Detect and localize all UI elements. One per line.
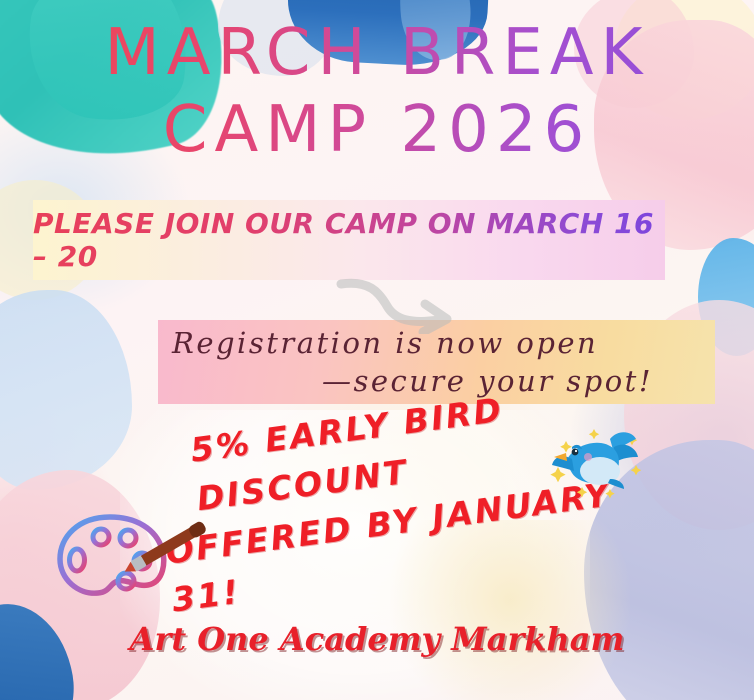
registration-line-1: Registration is now open <box>158 324 715 362</box>
headline-line-2: CAMP 2026 <box>0 99 754 162</box>
watercolor-splash-skyblue-left <box>0 290 132 490</box>
academy-signature: Art One Academy Markham <box>0 620 754 658</box>
blue-bird-icon <box>548 425 644 504</box>
join-band-text: PLEASE JOIN OUR CAMP ON MARCH 16 – 20 <box>33 200 665 280</box>
poster-headline: MARCH BREAK CAMP 2026 <box>0 22 754 161</box>
march-break-camp-poster: MARCH BREAK CAMP 2026 PLEASE JOIN OUR CA… <box>0 0 754 700</box>
headline-line-1: MARCH BREAK <box>0 22 754 85</box>
palette-and-brush-icon <box>52 505 212 620</box>
